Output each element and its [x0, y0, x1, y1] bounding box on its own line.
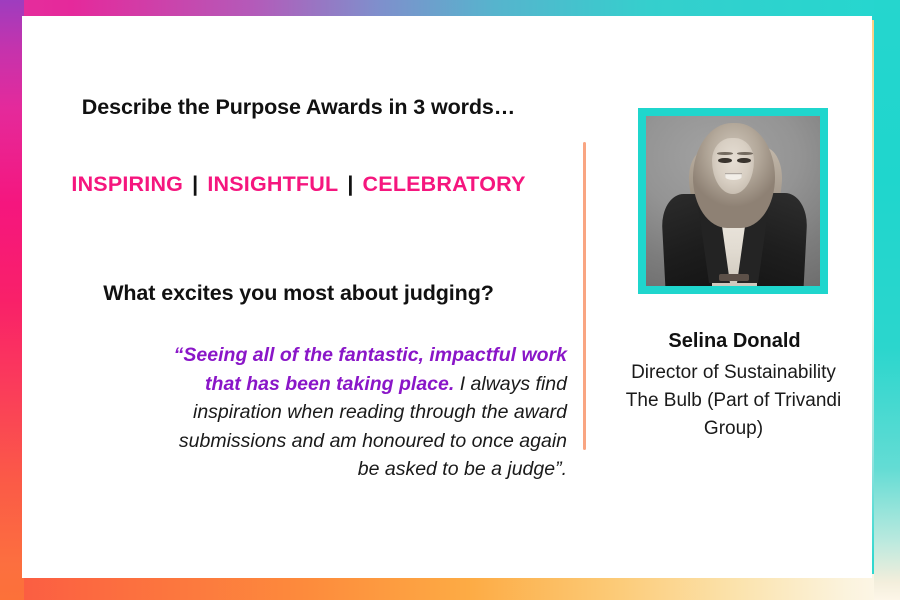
quote-block: “Seeing all of the fantastic, impactful … [152, 341, 567, 484]
keyword-separator-1: | [183, 172, 207, 196]
keyword-row: INSPIRING|INSIGHTFUL|CELEBRATORY [30, 172, 567, 197]
person-role-line-1: Director of Sustainability [591, 359, 876, 387]
frame-gradient-right [874, 0, 900, 600]
eyebrow-right [737, 152, 753, 155]
person-name: Selina Donald [597, 330, 872, 353]
slide-canvas: Describe the Purpose Awards in 3 words… … [0, 0, 900, 600]
person-role-line-3: Group) [591, 415, 876, 443]
keyword-separator-2: | [338, 172, 362, 196]
eyebrow-left [717, 152, 733, 155]
keyword-inspiring: INSPIRING [71, 172, 183, 196]
keyword-celebratory: CELEBRATORY [363, 172, 526, 196]
left-column: Describe the Purpose Awards in 3 words… … [30, 16, 575, 578]
person-role: Director of Sustainability The Bulb (Par… [591, 359, 876, 443]
content-card: Describe the Purpose Awards in 3 words… … [22, 16, 872, 578]
keyword-insightful: INSIGHTFUL [207, 172, 338, 196]
portrait-frame [638, 108, 828, 294]
question-two-heading: What excites you most about judging? [30, 281, 567, 306]
portrait-photo [646, 116, 820, 286]
person-role-line-2: The Bulb (Part of Trivandi [591, 387, 876, 415]
frame-gradient-left [0, 0, 24, 600]
belt [719, 274, 749, 281]
eye-right [737, 158, 751, 163]
column-divider [583, 142, 586, 450]
right-column: Selina Donald Director of Sustainability… [597, 16, 872, 578]
smile [725, 173, 742, 180]
eye-left [718, 158, 732, 163]
question-one-heading: Describe the Purpose Awards in 3 words… [30, 95, 567, 120]
